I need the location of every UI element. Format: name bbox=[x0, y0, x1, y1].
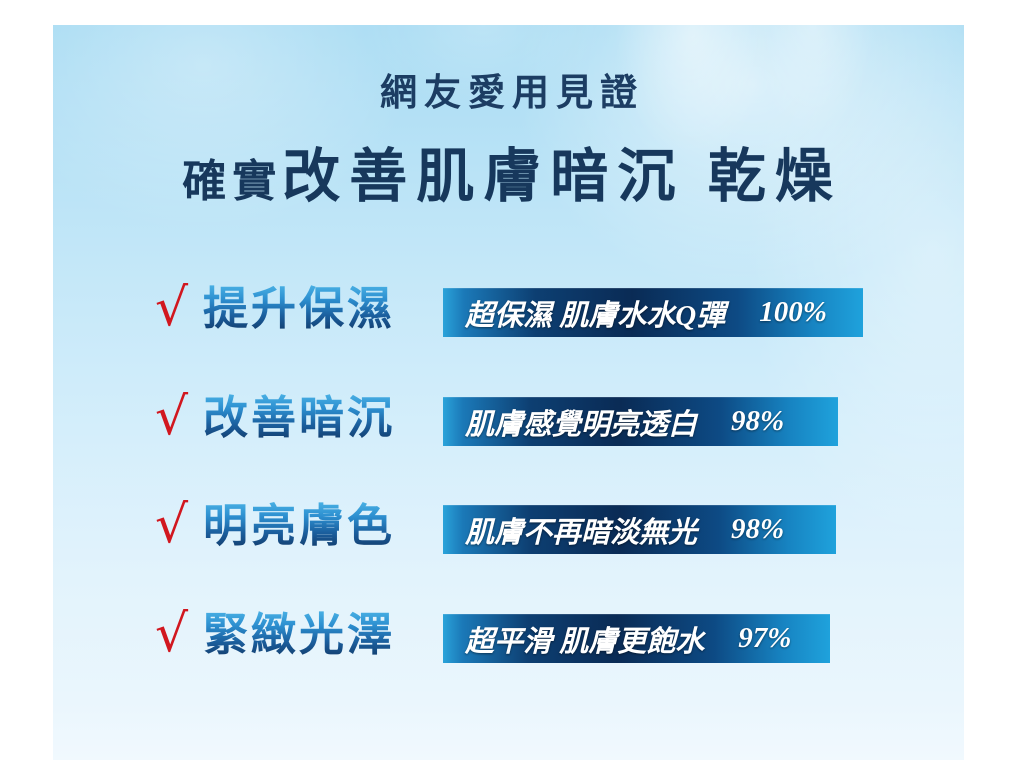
stat-percent: 97% bbox=[704, 622, 791, 655]
stat-bar: 肌膚不再暗淡無光 98% bbox=[443, 505, 836, 554]
stat-bar: 肌膚感覺明亮透白 98% bbox=[443, 397, 838, 446]
headline-lead: 確實 bbox=[182, 157, 282, 206]
headline-main: 改善肌膚暗沉 乾燥 bbox=[282, 144, 842, 209]
checkmark-icon: √ bbox=[155, 389, 188, 445]
checkmark-icon: √ bbox=[155, 280, 188, 336]
benefit-label: 改善暗沉 bbox=[203, 391, 395, 445]
kicker-heading: 網友愛用見證 bbox=[0, 62, 1024, 116]
checkmark-icon: √ bbox=[155, 606, 188, 662]
benefit-row: √ 明亮膚色 肌膚不再暗淡無光 98% bbox=[0, 495, 1024, 561]
benefit-row: √ 緊緻光澤 超平滑 肌膚更飽水 97% bbox=[0, 604, 1024, 670]
stat-phrase: 超保濕 肌膚水水Q彈 bbox=[443, 292, 725, 334]
stat-bar: 超平滑 肌膚更飽水 97% bbox=[443, 614, 830, 663]
stat-bar-text: 超平滑 肌膚更飽水 97% bbox=[443, 614, 830, 663]
stat-bar: 超保濕 肌膚水水Q彈 100% bbox=[443, 288, 863, 337]
stat-bar-text: 肌膚不再暗淡無光 98% bbox=[443, 505, 836, 554]
stat-percent: 98% bbox=[697, 513, 784, 546]
slide-root: 網友愛用見證 確實改善肌膚暗沉 乾燥 √ 提升保濕 超保濕 肌膚水水Q彈 100… bbox=[0, 0, 1024, 776]
stat-phrase: 肌膚不再暗淡無光 bbox=[443, 509, 697, 551]
benefit-label: 提升保濕 bbox=[203, 282, 395, 336]
stat-phrase: 超平滑 肌膚更飽水 bbox=[443, 618, 704, 660]
benefit-label: 明亮膚色 bbox=[203, 499, 395, 553]
benefit-label: 緊緻光澤 bbox=[203, 608, 395, 662]
checkmark-icon: √ bbox=[155, 497, 188, 553]
benefit-row: √ 改善暗沉 肌膚感覺明亮透白 98% bbox=[0, 387, 1024, 453]
stat-bar-text: 超保濕 肌膚水水Q彈 100% bbox=[443, 288, 863, 337]
stat-percent: 100% bbox=[725, 296, 827, 329]
stat-percent: 98% bbox=[697, 405, 784, 438]
stat-phrase: 肌膚感覺明亮透白 bbox=[443, 401, 697, 443]
page-title: 確實改善肌膚暗沉 乾燥 bbox=[0, 148, 1024, 206]
stat-bar-text: 肌膚感覺明亮透白 98% bbox=[443, 397, 838, 446]
benefit-row: √ 提升保濕 超保濕 肌膚水水Q彈 100% bbox=[0, 278, 1024, 344]
